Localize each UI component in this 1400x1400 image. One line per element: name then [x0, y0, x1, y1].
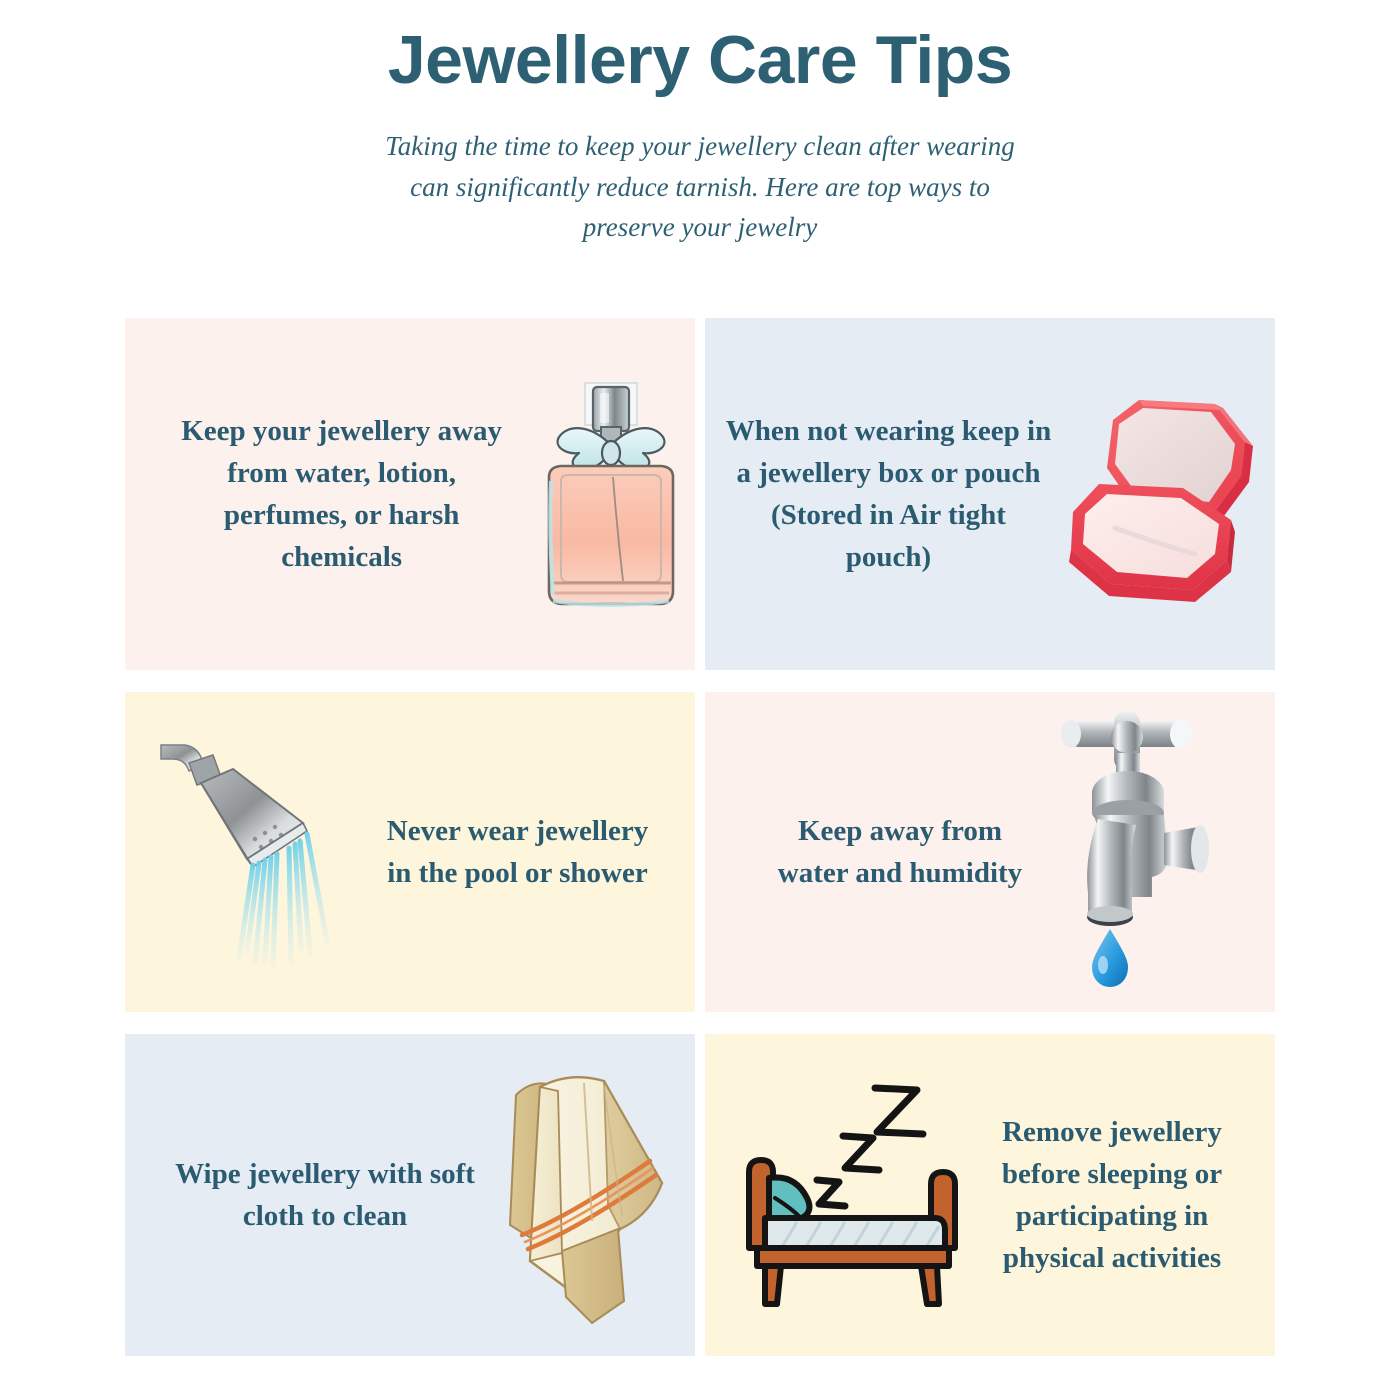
tip-card-2-surface: When not wearing keep in a jewellery box… — [705, 318, 1275, 670]
perfume-bottle-icon — [526, 369, 695, 619]
tip-card-5: Wipe jewellery with soft cloth to clean — [125, 1034, 695, 1356]
folded-cloth-icon — [495, 1065, 695, 1325]
header: Jewellery Care Tips Taking the time to k… — [0, 0, 1400, 248]
tip-card-4-text: Keep away from water and humidity — [765, 810, 1035, 894]
tip-card-5-text: Wipe jewellery with soft cloth to clean — [175, 1153, 475, 1237]
tip-card-3-text: Never wear jewellery in the pool or show… — [380, 810, 655, 894]
page-title: Jewellery Care Tips — [0, 22, 1400, 98]
shower-head-icon — [155, 727, 380, 977]
page-subtitle: Taking the time to keep your jewellery c… — [380, 126, 1020, 248]
tip-card-2: When not wearing keep in a jewellery box… — [705, 318, 1275, 670]
tip-card-1-text: Keep your jewellery away from water, lot… — [163, 410, 520, 578]
tip-card-4-surface: Keep away from water and humidity — [705, 692, 1275, 1012]
tip-card-5-surface: Wipe jewellery with soft cloth to clean — [125, 1034, 695, 1356]
tip-card-3: Never wear jewellery in the pool or show… — [125, 692, 695, 1012]
faucet-drip-icon — [1035, 707, 1245, 997]
tips-grid: Keep your jewellery away from water, lot… — [125, 318, 1275, 1356]
tip-card-6-surface: Remove jewellery before sleeping or part… — [705, 1034, 1275, 1356]
tip-card-1-surface: Keep your jewellery away from water, lot… — [125, 318, 695, 670]
tip-card-4: Keep away from water and humidity — [705, 692, 1275, 1012]
tip-card-6-text: Remove jewellery before sleeping or part… — [983, 1111, 1241, 1279]
tip-card-6: Remove jewellery before sleeping or part… — [705, 1034, 1275, 1356]
bed-sleeping-icon — [735, 1080, 983, 1310]
tip-card-2-text: When not wearing keep in a jewellery box… — [725, 410, 1052, 578]
tip-card-1: Keep your jewellery away from water, lot… — [125, 318, 695, 670]
infographic-page: Jewellery Care Tips Taking the time to k… — [0, 0, 1400, 1400]
tip-card-3-surface: Never wear jewellery in the pool or show… — [125, 692, 695, 1012]
ring-box-icon — [1062, 384, 1275, 604]
